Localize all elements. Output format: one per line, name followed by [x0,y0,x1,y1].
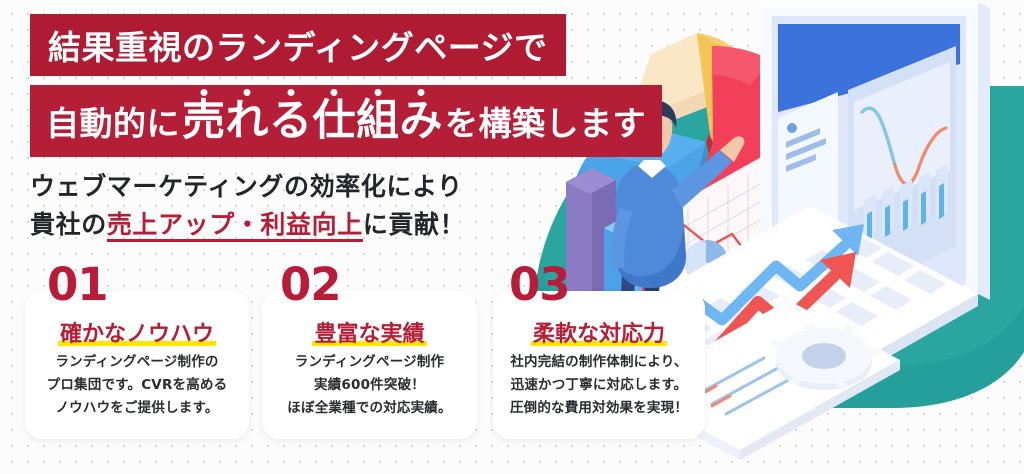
headline-line-2-suffix: を構築します [445,97,646,145]
sub-headline-suffix: に貢献！ [363,210,465,239]
feature-body-line: プロ集団です。CVRを高める [25,374,249,397]
feature-card-01[interactable]: 01 確かなノウハウ ランディングページ制作の プロ集団です。CVRを高める ノ… [25,291,249,439]
sub-headline-line-2: 貴社の売上アップ・利益向上に貢献！ [30,206,465,244]
feature-number: 01 [47,262,108,307]
feature-body-line: 社内完結の制作体制により、 [493,351,705,374]
sub-headline-highlight: 売上アップ・利益向上 [107,210,363,242]
emphasis-char: る [269,100,313,143]
sub-headline-line-1: ウェブマーケティングの効率化により [30,168,465,206]
feature-body: 社内完結の制作体制により、 迅速かつ丁寧に対応します。 圧倒的な費用対効果を実現… [493,351,705,421]
feature-body: ランディングページ制作の プロ集団です。CVRを高める ノウハウをご提供します。 [25,351,249,421]
feature-body-line: ランディングページ制作の [25,351,249,374]
headline-banner-primary: 結果重視のランディングページで [30,14,566,76]
emphasis-char: れ [226,100,270,143]
feature-body: ランディングページ制作 実績600件突破！ ほぼ全業種での対応実績。 [262,351,477,421]
sub-headline-prefix: 貴社の [30,210,107,239]
headline-line-2-emphasis: 売れる仕組み [180,100,445,143]
feature-body-line: ランディングページ制作 [262,351,477,374]
headline-banner-secondary: 自動的に売れる仕組みを構築します [30,85,662,157]
emphasis-char: み [400,100,444,143]
emphasis-char: 売 [182,100,226,143]
feature-title: 確かなノウハウ [25,316,249,348]
feature-body-line: 迅速かつ丁寧に対応します。 [493,374,705,397]
feature-number: 03 [509,262,570,307]
feature-body-line: 圧倒的な費用対効果を実現！ [493,397,705,420]
feature-title: 柔軟な対応力 [493,316,705,348]
feature-card-02[interactable]: 02 豊富な実績 ランディングページ制作 実績600件突破！ ほぼ全業種での対応… [262,291,477,439]
feature-body-line: 実績600件突破！ [262,374,477,397]
feature-card-03[interactable]: 03 柔軟な対応力 社内完結の制作体制により、 迅速かつ丁寧に対応します。 圧倒… [493,291,705,439]
feature-number: 02 [280,262,341,307]
feature-body-line: ほぼ全業種での対応実績。 [262,397,477,420]
emphasis-char: 仕 [313,100,357,143]
hero-section: 結果重視のランディングページで 自動的に売れる仕組みを構築します ウェブマーケテ… [0,0,1024,474]
headline-line-1: 結果重視のランディングページで [48,21,548,69]
feature-title: 豊富な実績 [262,316,477,348]
headline-line-2-prefix: 自動的に [46,97,180,145]
sub-headline: ウェブマーケティングの効率化により 貴社の売上アップ・利益向上に貢献！ [30,168,465,244]
emphasis-char: 組 [356,100,400,143]
feature-body-line: ノウハウをご提供します。 [25,397,249,420]
